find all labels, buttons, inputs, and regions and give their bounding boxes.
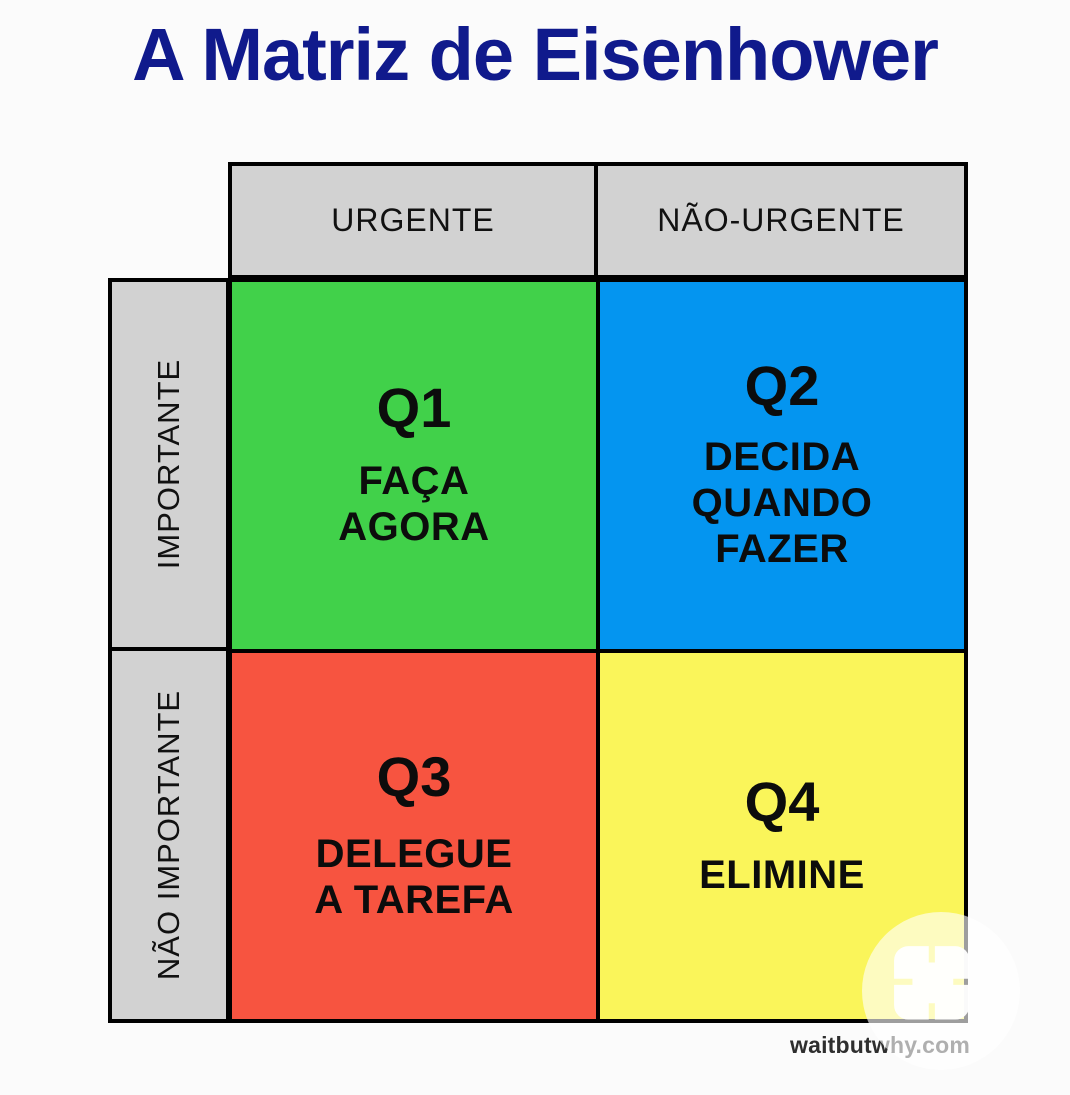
quadrant-q4[interactable]: Q4 ELIMINE xyxy=(600,653,964,1020)
row-header-nao-importante-label: NÃO IMPORTANTE xyxy=(151,690,187,980)
quadrant-q4-id: Q4 xyxy=(745,774,820,830)
quadrant-q4-action: ELIMINE xyxy=(699,852,865,898)
column-header-urgente-label: URGENTE xyxy=(331,202,494,239)
quadrant-q2[interactable]: Q2 DECIDA QUANDO FAZER xyxy=(600,282,964,649)
quadrant-q1-action: FAÇA AGORA xyxy=(338,458,489,550)
quadrant-q2-id: Q2 xyxy=(745,358,820,414)
quadrant-grid: Q1 FAÇA AGORA Q2 DECIDA QUANDO FAZER Q3 … xyxy=(228,278,968,1023)
quadrant-q2-action-line-1: DECIDA xyxy=(692,434,873,480)
quadrant-q3-action-line-1: DELEGUE xyxy=(314,831,514,877)
quadrant-q3-id: Q3 xyxy=(377,749,452,805)
page-title: A Matriz de Eisenhower xyxy=(0,18,1070,92)
eisenhower-matrix-page: A Matriz de Eisenhower URGENTE NÃO-URGEN… xyxy=(0,0,1070,1095)
row-header-nao-importante: NÃO IMPORTANTE xyxy=(112,651,226,1020)
quadrant-q2-action-line-2: QUANDO xyxy=(692,480,873,526)
quadrant-q3[interactable]: Q3 DELEGUE A TAREFA xyxy=(232,653,596,1020)
quadrant-q3-action-line-2: A TAREFA xyxy=(314,877,514,923)
quadrant-q1-action-line-2: AGORA xyxy=(338,504,489,550)
attribution-text: waitbutwhy.com xyxy=(790,1032,970,1059)
column-header-nao-urgente: NÃO-URGENTE xyxy=(598,166,964,275)
row-header-importante: IMPORTANTE xyxy=(112,282,226,651)
quadrant-q2-action: DECIDA QUANDO FAZER xyxy=(692,434,873,572)
quadrant-q1-action-line-1: FAÇA xyxy=(338,458,489,504)
quadrant-q2-action-line-3: FAZER xyxy=(692,526,873,572)
quadrant-q1-id: Q1 xyxy=(377,380,452,436)
column-header-nao-urgente-label: NÃO-URGENTE xyxy=(657,202,904,239)
quadrant-q4-action-line-1: ELIMINE xyxy=(699,852,865,898)
row-header-column: IMPORTANTE NÃO IMPORTANTE xyxy=(108,278,230,1023)
quadrant-q3-action: DELEGUE A TAREFA xyxy=(314,831,514,923)
column-header-urgente: URGENTE xyxy=(232,166,598,275)
column-header-row: URGENTE NÃO-URGENTE xyxy=(228,162,968,279)
quadrant-q1[interactable]: Q1 FAÇA AGORA xyxy=(232,282,596,649)
row-header-importante-label: IMPORTANTE xyxy=(151,359,187,569)
